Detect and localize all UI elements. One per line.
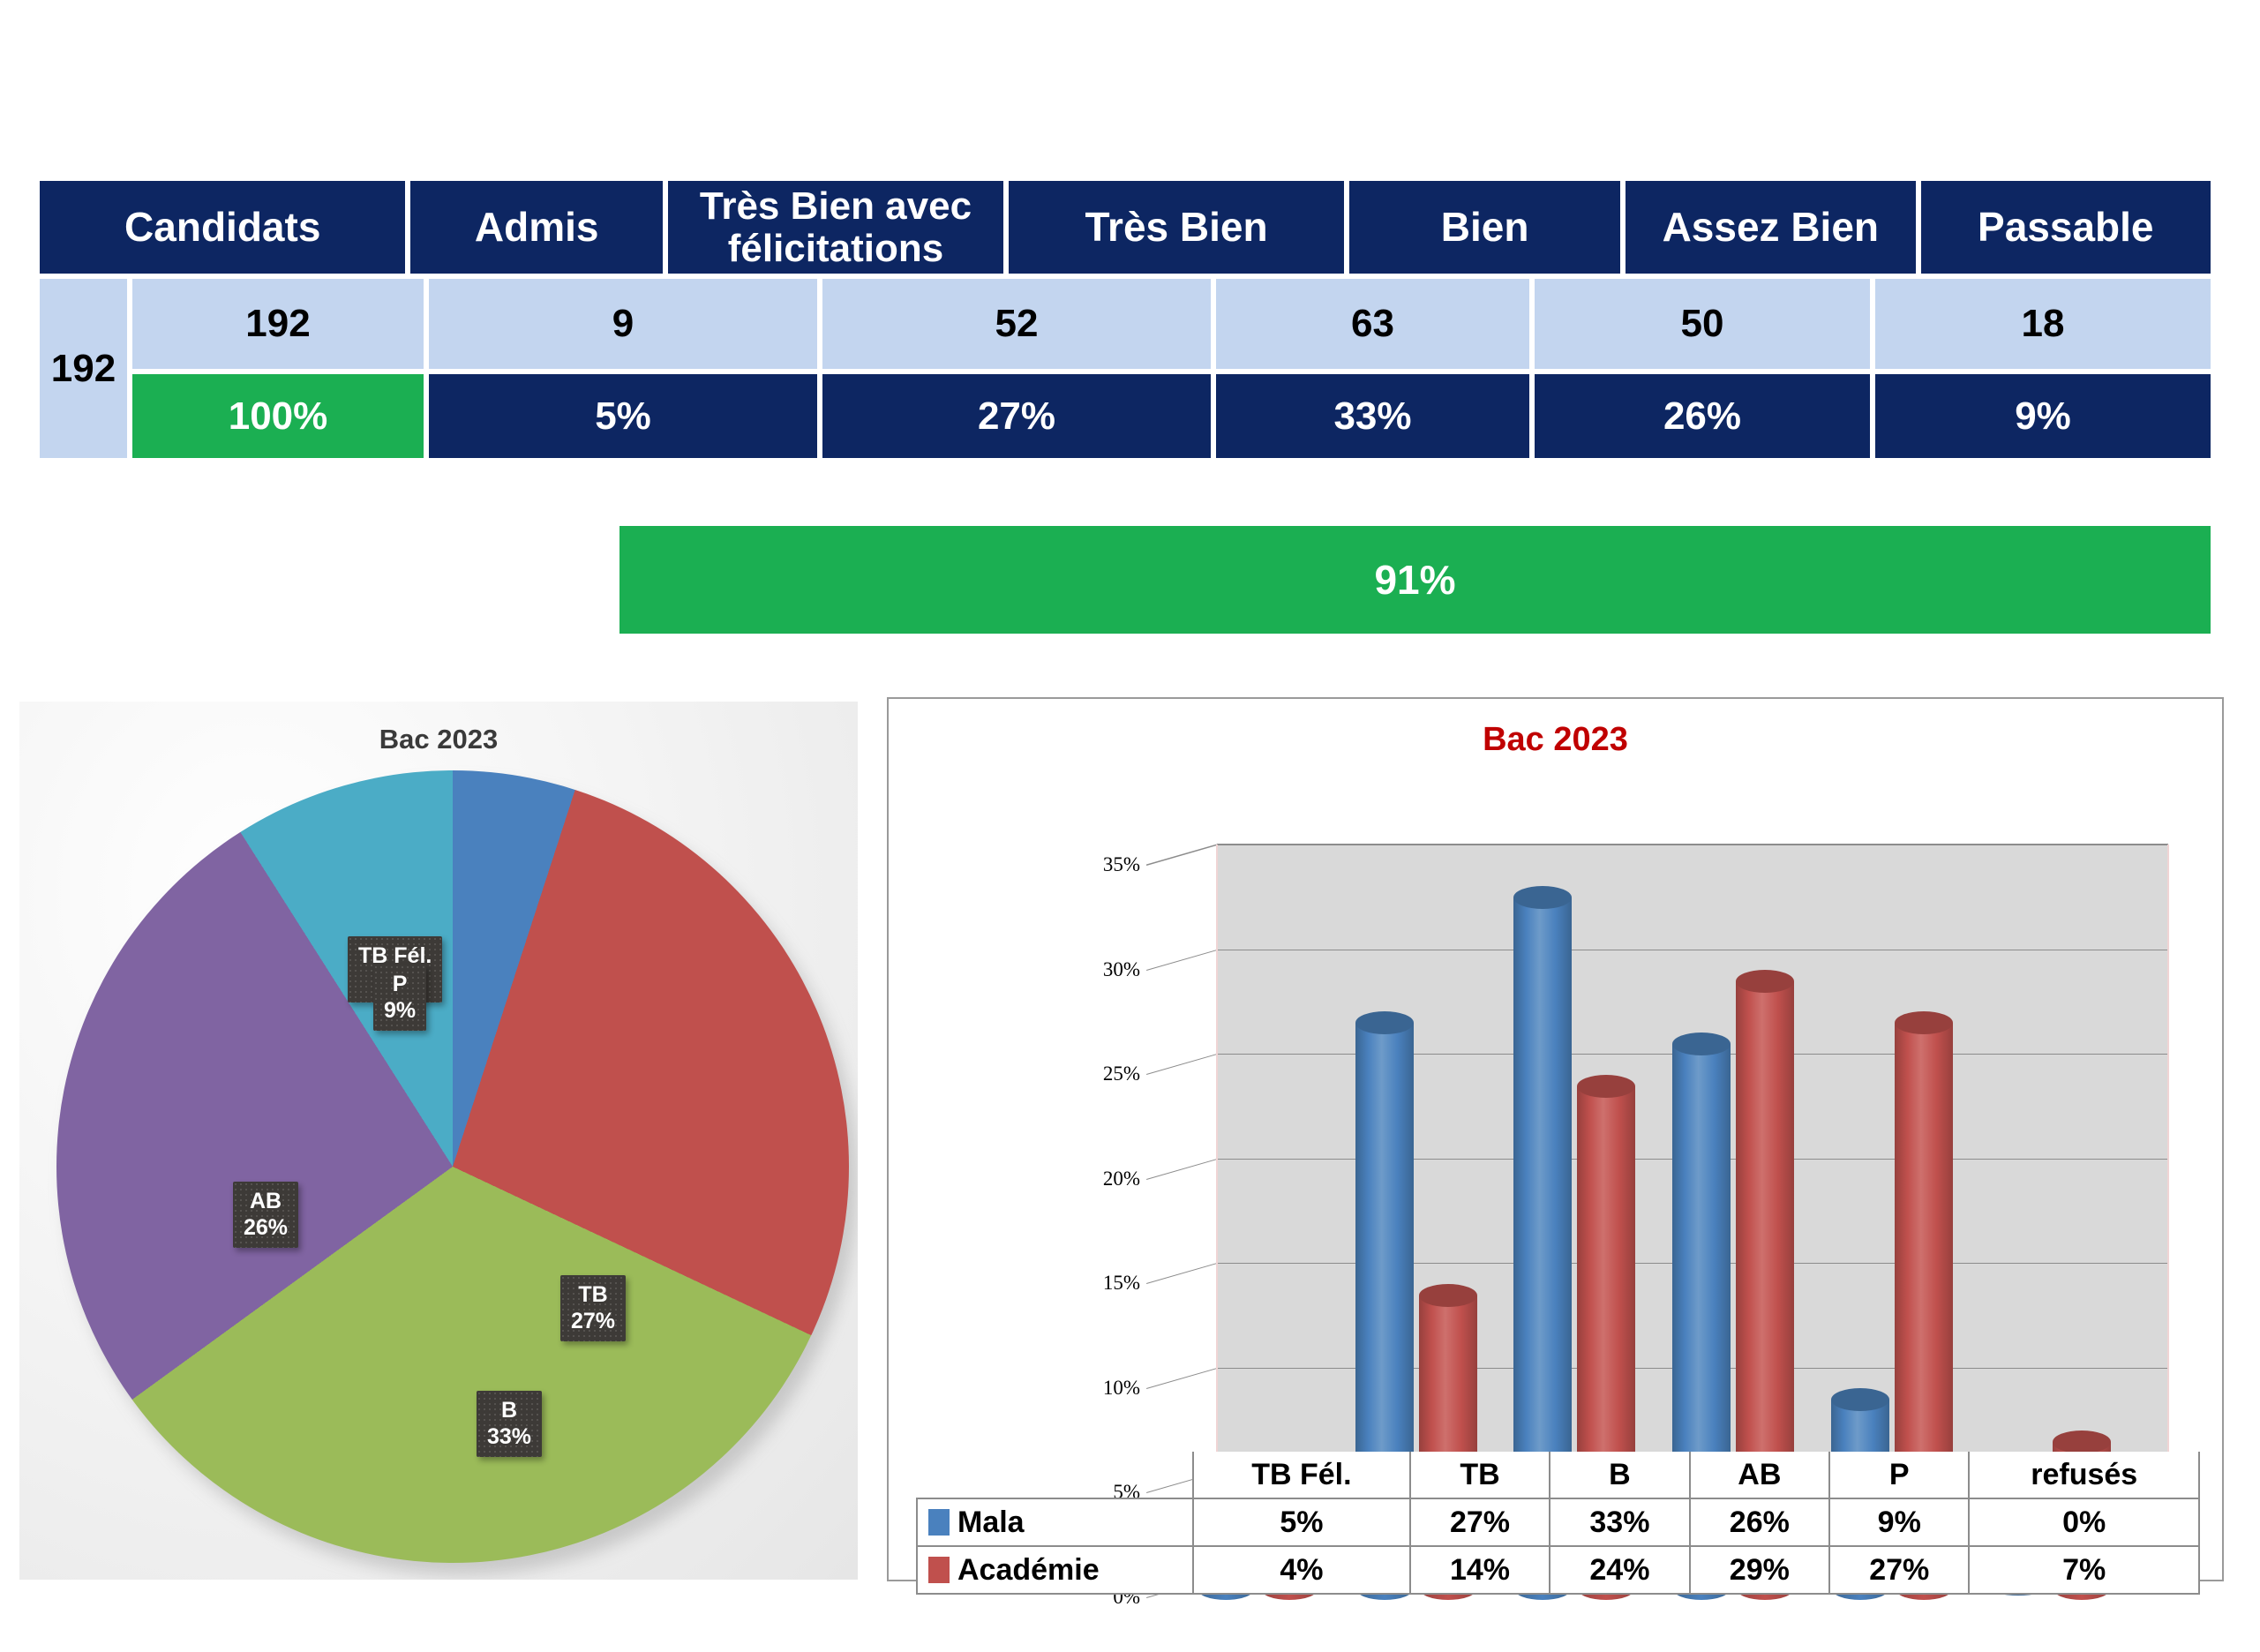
pie-label-b-name: B xyxy=(501,1398,517,1423)
col-header-passable: Passable xyxy=(1921,181,2211,274)
depth-edge-20 xyxy=(1146,1159,1217,1180)
y-tick-20: 20% xyxy=(1103,1168,1140,1190)
global-success-bar: 91% xyxy=(619,526,2211,634)
depth-edge-15 xyxy=(1146,1263,1217,1284)
col-header-tres-bien: Très Bien xyxy=(1009,181,1344,274)
academie-p: 27% xyxy=(1829,1546,1969,1594)
pie-slices xyxy=(56,770,849,1563)
pie-label-b: B 33% xyxy=(477,1391,542,1457)
series-name-mala: Mala xyxy=(957,1506,1025,1539)
pie-chart-graphic: TB Fél. 5% TB 27% B 33% AB 26% P 9% xyxy=(56,770,851,1565)
depth-edge-25 xyxy=(1146,1054,1217,1075)
col-header-assez-bien: Assez Bien xyxy=(1626,181,1915,274)
depth-edge-30 xyxy=(1146,950,1217,971)
results-table-percent-row: 100% 5% 27% 33% 26% 9% xyxy=(132,374,2211,458)
cell-pct-tres-bien: 27% xyxy=(822,374,1211,458)
mala-refuses: 0% xyxy=(1969,1498,2199,1546)
pie-label-ab-name: AB xyxy=(250,1189,282,1213)
bar-top-ellipse xyxy=(1895,1011,1953,1034)
y-tick-25: 25% xyxy=(1103,1063,1140,1085)
col-header-admis: Admis xyxy=(410,181,662,274)
cell-count-tres-bien: 52 xyxy=(822,279,1211,369)
y-tick-30: 30% xyxy=(1103,958,1140,981)
mala-tb-fel: 5% xyxy=(1193,1498,1410,1546)
bar-chart-panel: Bac 2023 0%5%10%15%20%25%30%35% xyxy=(887,697,2224,1581)
pie-label-p-name: P xyxy=(393,972,408,996)
results-table-body: 192 192 9 52 63 50 18 100% 5% 27% 33% 26… xyxy=(40,279,2211,458)
bar-top-ellipse xyxy=(1831,1388,1889,1411)
series-name-academie: Académie xyxy=(957,1553,1100,1587)
y-tick-10: 10% xyxy=(1103,1377,1140,1400)
grid-line-35 xyxy=(1217,845,2168,845)
cell-candidats-total: 192 xyxy=(40,279,127,458)
bar-table-header-refuses: refusés xyxy=(1969,1452,2199,1498)
bar-top-ellipse xyxy=(1672,1032,1731,1055)
pie-label-b-pct: 33% xyxy=(487,1424,531,1449)
cell-count-passable: 18 xyxy=(1875,279,2211,369)
cell-count-assez-bien: 50 xyxy=(1535,279,1870,369)
results-table-counts-row: 192 9 52 63 50 18 xyxy=(132,279,2211,369)
pie-label-tb-name: TB xyxy=(578,1282,607,1307)
bar-chart-title: Bac 2023 xyxy=(889,721,2222,759)
cell-pct-admis: 100% xyxy=(132,374,424,458)
pie-label-ab-pct: 26% xyxy=(244,1215,288,1240)
legend-swatch-mala-icon xyxy=(928,1509,950,1536)
tbf-line2: félicitations xyxy=(728,227,944,270)
results-table: Candidats Admis Très Bien avec félicitat… xyxy=(40,181,2211,458)
depth-edge-10 xyxy=(1146,1368,1217,1389)
results-table-header-row: Candidats Admis Très Bien avec félicitat… xyxy=(40,181,2211,274)
mala-ab: 26% xyxy=(1690,1498,1829,1546)
cell-count-admis: 192 xyxy=(132,279,424,369)
academie-b: 24% xyxy=(1550,1546,1689,1594)
bar-top-ellipse xyxy=(1577,1075,1635,1098)
bar-table-header-ab: AB xyxy=(1690,1452,1829,1498)
pie-chart-title: Bac 2023 xyxy=(19,724,858,755)
bar-chart-data-table: TB Fél. TB B AB P refusés Mala 5% 27% 33… xyxy=(916,1452,2200,1595)
cell-count-tbf: 9 xyxy=(429,279,817,369)
y-tick-15: 15% xyxy=(1103,1272,1140,1295)
col-header-candidats: Candidats xyxy=(40,181,405,274)
pie-label-p: P 9% xyxy=(373,965,426,1031)
bar-top-ellipse xyxy=(2053,1430,2111,1453)
legend-swatch-academie-icon xyxy=(928,1557,950,1583)
col-header-bien: Bien xyxy=(1349,181,1620,274)
bar-top-ellipse xyxy=(1419,1284,1477,1307)
col-header-tbf-text: Très Bien avec félicitations xyxy=(700,185,972,269)
bar-table-row-mala: Mala 5% 27% 33% 26% 9% 0% xyxy=(917,1498,2199,1546)
bar-table-series-label-mala: Mala xyxy=(917,1498,1193,1546)
y-tick-35: 35% xyxy=(1103,853,1140,876)
cell-pct-passable: 9% xyxy=(1875,374,2211,458)
tbf-line1: Très Bien avec xyxy=(700,184,972,228)
pie-label-tb: TB 27% xyxy=(560,1275,626,1341)
mala-b: 33% xyxy=(1550,1498,1689,1546)
cell-count-bien: 63 xyxy=(1216,279,1529,369)
cell-pct-tbf: 5% xyxy=(429,374,817,458)
bar-table-header-tb-fel: TB Fél. xyxy=(1193,1452,1410,1498)
cell-pct-assez-bien: 26% xyxy=(1535,374,1870,458)
pie-label-ab: AB 26% xyxy=(233,1182,298,1248)
bar-table-header-b: B xyxy=(1550,1452,1689,1498)
bar-table-corner xyxy=(917,1452,1193,1498)
bar-table-row-academie: Académie 4% 14% 24% 29% 27% 7% xyxy=(917,1546,2199,1594)
pie-label-tb-pct: 27% xyxy=(571,1309,615,1333)
depth-edge-35 xyxy=(1146,845,1217,866)
academie-refuses: 7% xyxy=(1969,1546,2199,1594)
col-header-tres-bien-felicitations: Très Bien avec félicitations xyxy=(668,181,1003,274)
grid-line-30 xyxy=(1217,950,2168,950)
bar-top-ellipse xyxy=(1736,970,1794,993)
academie-tb-fel: 4% xyxy=(1193,1546,1410,1594)
bar-top-ellipse xyxy=(1513,886,1572,909)
mala-tb: 27% xyxy=(1410,1498,1550,1546)
academie-tb: 14% xyxy=(1410,1546,1550,1594)
cell-pct-bien: 33% xyxy=(1216,374,1529,458)
pie-label-p-pct: 9% xyxy=(384,998,416,1023)
academie-ab: 29% xyxy=(1690,1546,1829,1594)
mala-p: 9% xyxy=(1829,1498,1969,1546)
bar-table-header-tb: TB xyxy=(1410,1452,1550,1498)
pie-chart-panel: Bac 2023 TB Fél. 5% TB 27% B 33% AB 26% … xyxy=(19,702,858,1580)
bar-table-series-label-academie: Académie xyxy=(917,1546,1193,1594)
bar-table-header-row: TB Fél. TB B AB P refusés xyxy=(917,1452,2199,1498)
bar-table-header-p: P xyxy=(1829,1452,1969,1498)
bar-top-ellipse xyxy=(1355,1011,1414,1034)
